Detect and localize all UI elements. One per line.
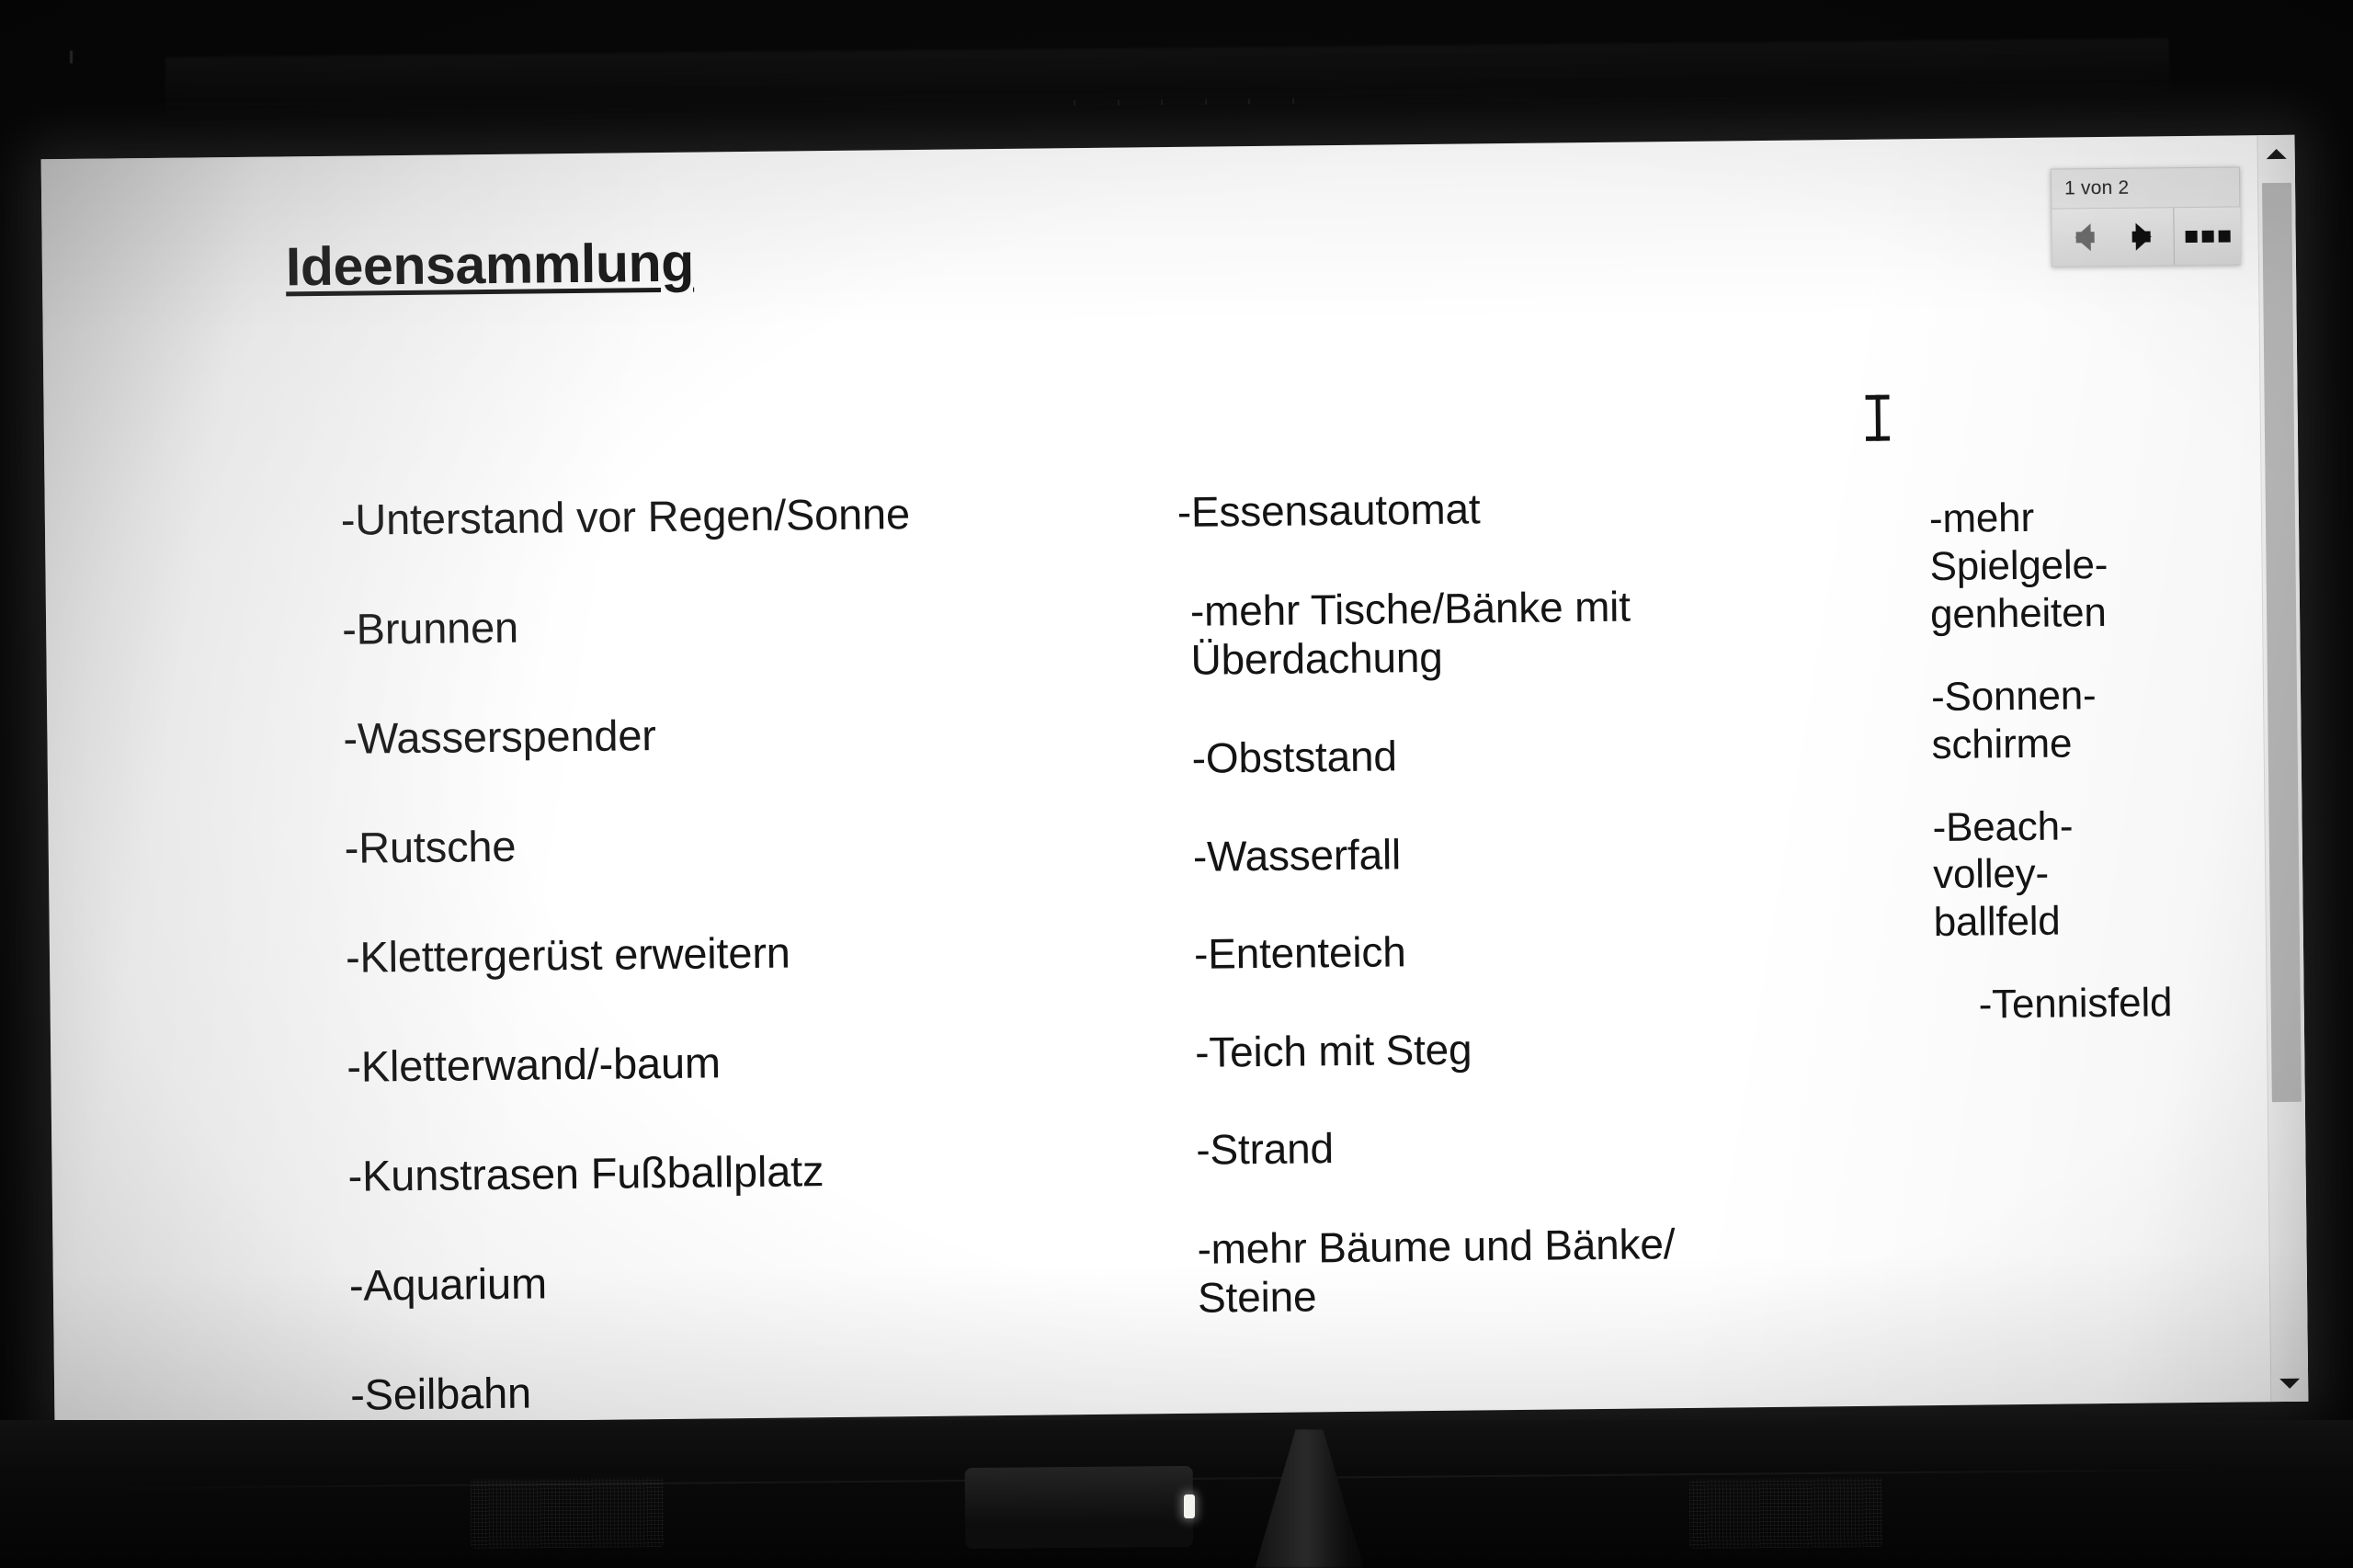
list-item: -Strand <box>1196 1119 1895 1175</box>
list-item: -Essensautomat <box>1177 482 1889 537</box>
monitor-screen: Ideensammlung -Unterstand vor Regen/Sonn… <box>41 135 2309 1426</box>
ideas-column-3: -mehr Spielgele- genheiten -Sonnen- schi… <box>1929 492 2303 1064</box>
list-item: -Ententeich <box>1194 924 1893 979</box>
scrollbar-thumb[interactable] <box>2262 183 2302 1102</box>
scroll-up-button[interactable] <box>2257 135 2294 172</box>
list-item: -Obststand <box>1191 728 1891 783</box>
list-item: -mehr Bäume und Bänke/ Steine <box>1197 1217 1896 1323</box>
scroll-down-button[interactable] <box>2271 1365 2308 1402</box>
next-page-button[interactable] <box>2112 208 2174 266</box>
list-item: -Rutsche <box>344 817 1171 869</box>
page-navigation-buttons <box>2051 206 2241 267</box>
list-item: -Brunnen <box>342 598 1169 651</box>
list-item: -Unterstand vor Regen/Sonne <box>341 489 1168 541</box>
monitor-osd-button <box>965 1466 1194 1549</box>
page-title: Ideensammlung <box>286 232 695 299</box>
arrow-right-icon <box>2135 222 2151 250</box>
page-counter-label: 1 von 2 <box>2051 166 2240 208</box>
chevron-up-icon <box>2267 148 2287 158</box>
list-item: -Beach- volley- ballfeld <box>1932 800 2302 947</box>
list-item: -Aquarium <box>349 1255 1176 1307</box>
list-item: -Kunstrasen Fußballplatz <box>347 1145 1175 1198</box>
ideas-column-2: -Essensautomat -mehr Tische/Bänke mit Üb… <box>1189 482 1897 1374</box>
document-page: Ideensammlung -Unterstand vor Regen/Sonn… <box>41 135 2309 1426</box>
arrow-left-icon <box>2075 223 2090 251</box>
list-item: -Wasserspender <box>343 708 1170 760</box>
list-item: -Kletterwand/-baum <box>347 1036 1174 1088</box>
list-item: -Tennisfeld <box>1978 978 2302 1029</box>
chevron-down-icon <box>2279 1378 2300 1388</box>
dust-speck <box>70 51 73 63</box>
speaker-grille-left <box>471 1477 665 1549</box>
ideas-column-1: -Unterstand vor Regen/Sonne -Brunnen -Wa… <box>341 489 1180 1426</box>
speaker-grille-right <box>1689 1477 1883 1549</box>
monitor-top-bezel <box>165 39 2170 120</box>
page-navigation-overlay[interactable]: 1 von 2 <box>2051 166 2241 267</box>
more-horizontal-icon <box>2185 230 2230 243</box>
list-item: -Teich mit Steg <box>1195 1021 1894 1076</box>
list-item: -Sonnen- schirme <box>1931 669 2300 768</box>
list-item: -mehr Tische/Bänke mit Überdachung <box>1190 579 1890 685</box>
list-item: -Wasserfall <box>1193 825 1893 881</box>
list-item: -Seilbahn <box>350 1364 1177 1416</box>
list-item: -mehr Spielgele- genheiten <box>1929 492 2299 639</box>
monitor-photo: Ideensammlung -Unterstand vor Regen/Sonn… <box>0 0 2353 1568</box>
text-ibeam-cursor <box>1866 395 1891 441</box>
power-led-indicator <box>1184 1494 1195 1518</box>
more-options-button[interactable] <box>2173 207 2241 265</box>
list-item: -Klettergerüst erweitern <box>346 926 1173 979</box>
previous-page-button[interactable] <box>2052 209 2113 267</box>
